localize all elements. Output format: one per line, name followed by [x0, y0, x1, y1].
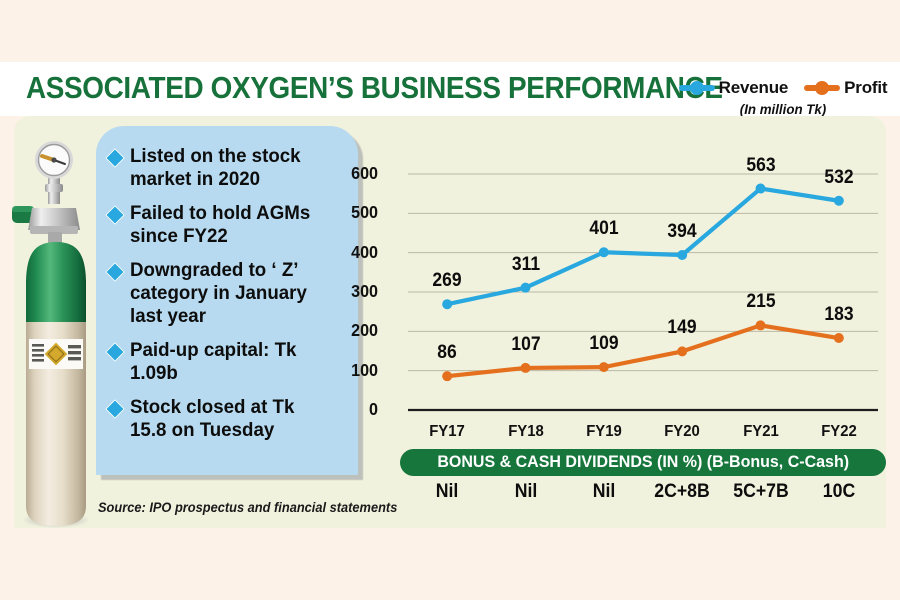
value-label-profit-FY17: 86 — [415, 342, 479, 364]
regulator-nut — [45, 184, 63, 192]
line-chart: 6005004003002001000 26931140139456353286… — [386, 150, 886, 440]
oxygen-cylinder-icon — [12, 134, 98, 534]
legend-dot-revenue-icon — [690, 81, 704, 95]
y-tick-100: 100 — [341, 360, 378, 381]
diamond-bullet-icon — [105, 262, 125, 282]
data-point-revenue-FY22 — [834, 196, 844, 206]
legend-label-profit: Profit — [844, 78, 887, 98]
legend-item-revenue: Revenue — [679, 78, 788, 98]
data-point-profit-FY21 — [756, 320, 766, 330]
y-tick-0: 0 — [341, 399, 378, 420]
legend-label-revenue: Revenue — [719, 78, 788, 98]
list-item: Listed on the stock market in 2020 — [108, 145, 344, 191]
data-point-profit-FY19 — [599, 362, 609, 372]
x-tick-FY18: FY18 — [493, 423, 558, 441]
y-tick-400: 400 — [341, 242, 378, 263]
dividends-bar-label: BONUS & CASH DIVIDENDS (IN %) (B-Bonus, … — [437, 453, 849, 472]
series-line-revenue — [447, 189, 839, 305]
list-item: Stock closed at Tk 15.8 on Tuesday — [108, 396, 344, 442]
data-point-profit-FY18 — [521, 363, 531, 373]
list-item-label: Paid-up capital: Tk 1.09b — [130, 339, 335, 385]
list-item-label: Listed on the stock market in 2020 — [130, 145, 335, 191]
dividends-bar: BONUS & CASH DIVIDENDS (IN %) (B-Bonus, … — [400, 449, 886, 476]
legend-dot-profit-icon — [815, 81, 829, 95]
dividend-value-FY21: 5C+7B — [723, 481, 797, 503]
legend-unit-note: (In million Tk) — [678, 101, 889, 117]
value-label-revenue-FY20: 394 — [650, 221, 714, 243]
dividend-value-FY22: 10C — [802, 481, 876, 503]
value-label-revenue-FY19: 401 — [572, 218, 636, 240]
legend-line-profit-icon — [804, 85, 840, 91]
diamond-bullet-icon — [105, 399, 125, 419]
x-tick-FY21: FY21 — [728, 423, 793, 441]
data-point-revenue-FY20 — [677, 250, 687, 260]
gauge-hub — [51, 157, 56, 162]
list-item-label: Failed to hold AGMs since FY22 — [130, 202, 335, 248]
cylinder-shoulder — [26, 242, 86, 284]
value-label-revenue-FY18: 311 — [493, 254, 557, 276]
cylinder-green-band — [26, 280, 86, 324]
value-label-revenue-FY21: 563 — [728, 155, 792, 177]
x-tick-FY19: FY19 — [571, 423, 636, 441]
list-item-label: Stock closed at Tk 15.8 on Tuesday — [130, 396, 335, 442]
legend-item-profit: Profit — [804, 78, 887, 98]
diamond-bullet-icon — [105, 342, 125, 362]
dividend-value-FY19: Nil — [567, 481, 641, 503]
data-point-revenue-FY18 — [521, 283, 531, 293]
legend-line-revenue-icon — [679, 85, 715, 91]
x-tick-FY17: FY17 — [415, 423, 480, 441]
list-item-label: Downgraded to ‘ Z’ category in January l… — [130, 259, 335, 328]
infographic-root: ASSOCIATED OXYGEN’S BUSINESS PERFORMANCE… — [0, 0, 900, 600]
cylinder-side-outlet-highlight — [12, 206, 34, 212]
y-tick-600: 600 — [341, 163, 378, 184]
y-tick-200: 200 — [341, 320, 378, 341]
data-point-revenue-FY17 — [442, 299, 452, 309]
value-label-revenue-FY17: 269 — [415, 270, 479, 292]
value-label-profit-FY21: 215 — [728, 291, 792, 313]
chart-legend: Revenue Profit (In million Tk) — [672, 78, 894, 117]
highlights-card: Listed on the stock market in 2020 Faile… — [96, 126, 358, 475]
x-tick-FY22: FY22 — [806, 423, 871, 441]
data-point-profit-FY17 — [442, 371, 452, 381]
dividend-value-FY20: 2C+8B — [645, 481, 719, 503]
y-tick-500: 500 — [341, 202, 378, 223]
list-item: Paid-up capital: Tk 1.09b — [108, 339, 344, 385]
value-label-profit-FY18: 107 — [493, 334, 557, 356]
data-point-profit-FY20 — [677, 346, 687, 356]
list-item: Failed to hold AGMs since FY22 — [108, 202, 344, 248]
value-label-profit-FY20: 149 — [650, 317, 714, 339]
value-label-revenue-FY22: 532 — [807, 167, 871, 189]
chart-plot-area — [386, 150, 886, 440]
diamond-bullet-icon — [105, 148, 125, 168]
value-label-profit-FY19: 109 — [572, 333, 636, 355]
value-label-profit-FY22: 183 — [807, 304, 871, 326]
x-tick-FY20: FY20 — [650, 423, 715, 441]
diamond-bullet-icon — [105, 205, 125, 225]
data-point-revenue-FY21 — [756, 184, 766, 194]
dividend-value-FY17: Nil — [410, 481, 484, 503]
list-item: Downgraded to ‘ Z’ category in January l… — [108, 259, 344, 328]
y-tick-300: 300 — [341, 281, 378, 302]
data-point-revenue-FY19 — [599, 247, 609, 257]
dividend-value-FY18: Nil — [488, 481, 562, 503]
data-point-profit-FY22 — [834, 333, 844, 343]
source-note: Source: IPO prospectus and financial sta… — [98, 500, 397, 515]
page-title: ASSOCIATED OXYGEN’S BUSINESS PERFORMANCE — [26, 70, 723, 106]
